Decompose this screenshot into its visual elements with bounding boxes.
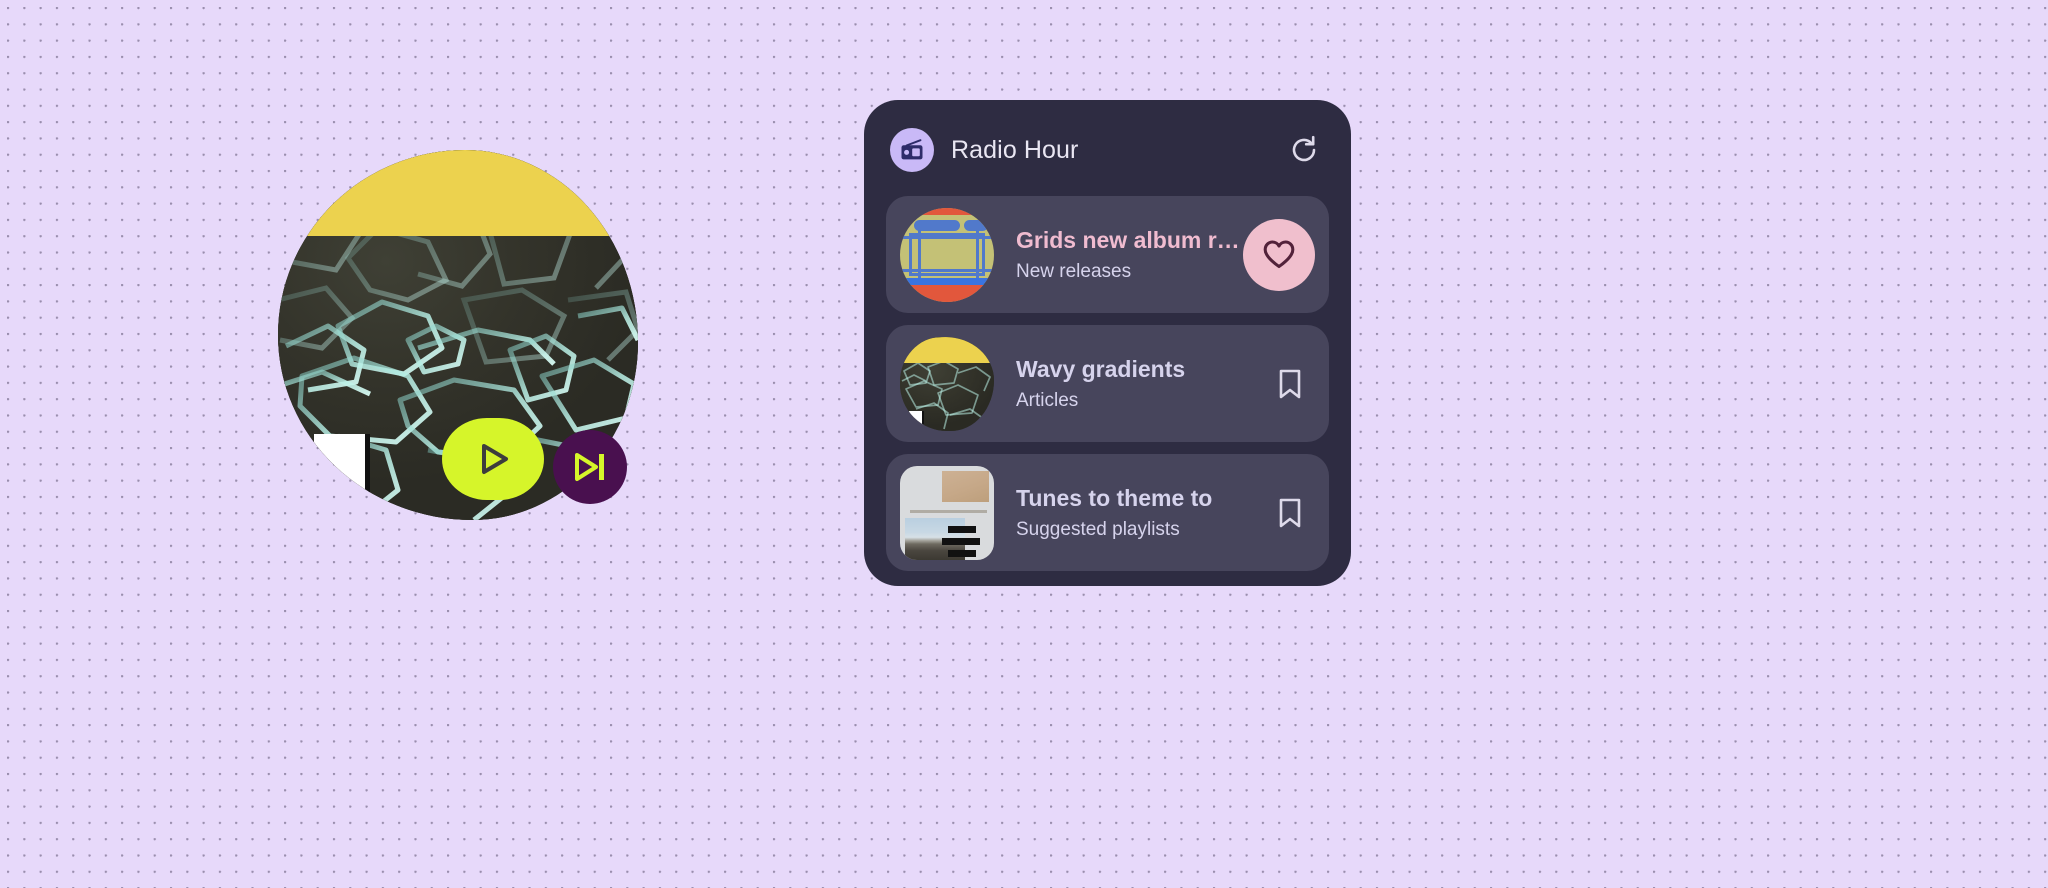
- wavy-gradients-thumbnail: [900, 337, 994, 431]
- play-button[interactable]: [442, 418, 544, 500]
- list-item-subtitle: Articles: [1016, 390, 1269, 412]
- refresh-button[interactable]: [1285, 131, 1323, 169]
- list-item[interactable]: Wavy gradients Articles: [886, 325, 1329, 442]
- list-item-title: Grids new album r…: [1016, 227, 1243, 254]
- radio-badge: [890, 128, 934, 172]
- list-item-title: Wavy gradients: [1016, 356, 1269, 383]
- bookmark-button[interactable]: [1269, 363, 1311, 405]
- list-item[interactable]: Tunes to theme to Suggested playlists: [886, 454, 1329, 571]
- feed-list: Grids new album r… New releases: [886, 196, 1329, 571]
- heart-icon: [1262, 239, 1296, 270]
- artwork-square-accent: [314, 434, 370, 496]
- radio-icon: [899, 138, 925, 162]
- skip-next-button[interactable]: [553, 430, 627, 504]
- list-item[interactable]: Grids new album r… New releases: [886, 196, 1329, 313]
- artwork-yellow-band: [278, 150, 638, 236]
- bookmark-icon: [1277, 497, 1303, 529]
- list-item-text: Grids new album r… New releases: [1016, 227, 1243, 283]
- beach-document-thumbnail: [900, 466, 994, 560]
- page-title: Radio Hour: [951, 136, 1078, 165]
- list-item-title: Tunes to theme to: [1016, 485, 1269, 512]
- skip-next-icon: [572, 450, 608, 484]
- list-item-text: Wavy gradients Articles: [1016, 356, 1269, 412]
- play-icon: [473, 439, 513, 479]
- list-item-text: Tunes to theme to Suggested playlists: [1016, 485, 1269, 541]
- list-item-subtitle: New releases: [1016, 261, 1243, 283]
- radio-hour-card: Radio Hour Grids new: [864, 100, 1351, 586]
- list-item-subtitle: Suggested playlists: [1016, 519, 1269, 541]
- refresh-icon: [1288, 134, 1320, 166]
- favorite-button[interactable]: [1243, 219, 1315, 291]
- grid-artwork-thumbnail: [900, 208, 994, 302]
- bookmark-button[interactable]: [1269, 492, 1311, 534]
- bookmark-icon: [1277, 368, 1303, 400]
- card-header: Radio Hour: [886, 122, 1329, 178]
- album-artwork: [278, 150, 638, 520]
